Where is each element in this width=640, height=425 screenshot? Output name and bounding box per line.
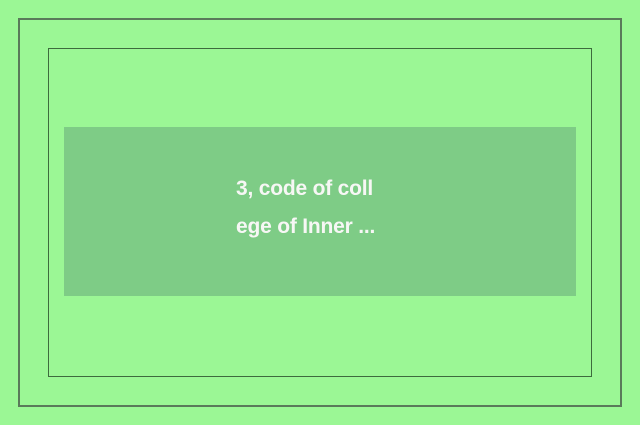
panel-text-label: 3, code of coll ege of Inner ...: [236, 170, 436, 246]
content-panel[interactable]: 3, code of coll ege of Inner ...: [64, 127, 576, 296]
page-canvas: 3, code of coll ege of Inner ...: [0, 0, 640, 425]
